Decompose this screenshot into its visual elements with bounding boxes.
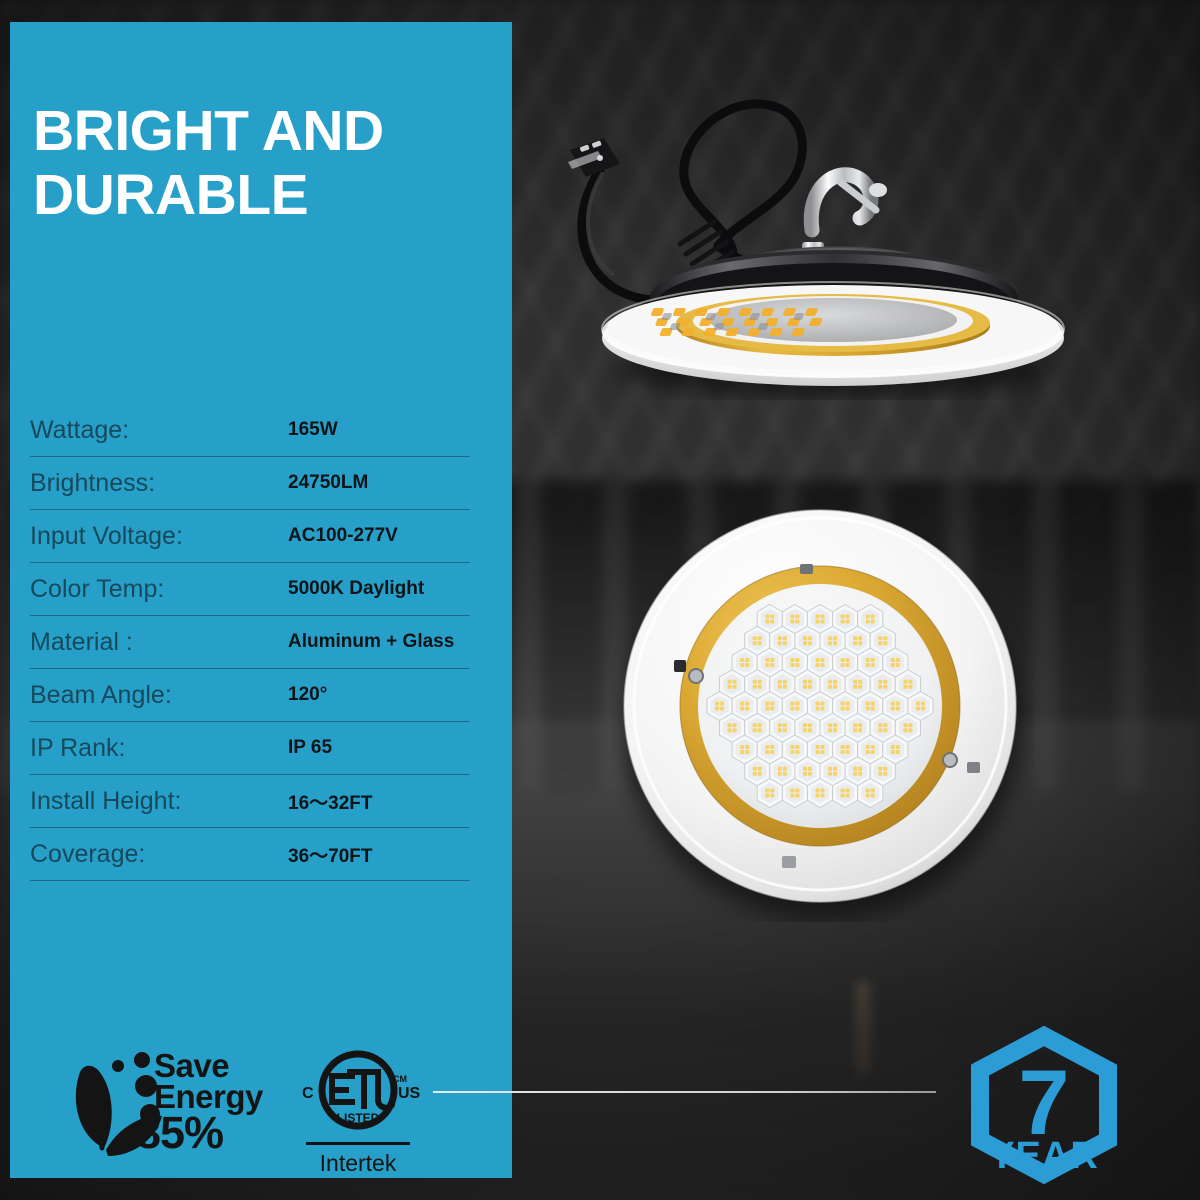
led-chip	[816, 745, 820, 749]
led-chip	[740, 707, 744, 711]
led-chip	[883, 685, 887, 689]
led-chip	[846, 620, 850, 624]
led-chip	[871, 663, 875, 667]
etl-mark-icon: CM LISTED C US	[302, 1054, 421, 1126]
led-chip	[853, 772, 857, 776]
led-chip	[778, 728, 782, 732]
led-chip	[908, 728, 912, 732]
led-chip	[795, 620, 799, 624]
led-chip	[795, 707, 799, 711]
led-chip	[770, 702, 774, 706]
led-chip	[828, 685, 832, 689]
mount-screw	[689, 669, 703, 683]
mount-screw	[943, 753, 957, 767]
led-chip	[803, 772, 807, 776]
led-chip	[921, 707, 925, 711]
led-chip	[765, 794, 769, 798]
led-chip	[778, 685, 782, 689]
led-chip	[903, 723, 907, 727]
led-chip	[770, 658, 774, 662]
led-chip	[891, 663, 895, 667]
led-chip	[803, 685, 807, 689]
spec-value: 16～32FT	[288, 788, 372, 815]
led-chip	[740, 702, 744, 706]
led-chip	[816, 789, 820, 793]
led-chip	[866, 658, 870, 662]
led-chip	[728, 728, 732, 732]
led-chip	[821, 615, 825, 619]
led-chip	[740, 750, 744, 754]
led-chip	[891, 745, 895, 749]
led-chip	[740, 658, 744, 662]
led-chip	[908, 723, 912, 727]
spec-label: Color Temp:	[30, 575, 288, 604]
led-chip	[770, 620, 774, 624]
save-energy-text: Save Energy 85%	[154, 1050, 263, 1154]
led-chip	[833, 680, 837, 684]
led-chip	[891, 707, 895, 711]
led-chip	[803, 767, 807, 771]
led-chip	[841, 620, 845, 624]
led-chip	[740, 663, 744, 667]
led-chip	[765, 620, 769, 624]
led-chip	[758, 685, 762, 689]
led-chip	[783, 636, 787, 640]
led-chip	[846, 707, 850, 711]
led-chip	[878, 680, 882, 684]
led-chip	[783, 728, 787, 732]
led-chip	[871, 789, 875, 793]
led-chip	[853, 767, 857, 771]
led-chip	[783, 680, 787, 684]
led-chip	[846, 615, 850, 619]
led-chip	[916, 707, 920, 711]
spec-label: Brightness:	[30, 469, 288, 498]
led-chip	[795, 658, 799, 662]
led-chip	[758, 636, 762, 640]
led-chip	[878, 641, 882, 645]
led-chip	[841, 615, 845, 619]
led-chip	[821, 794, 825, 798]
led-chip	[803, 723, 807, 727]
led-chip	[816, 702, 820, 706]
spec-value: 165W	[288, 419, 338, 441]
led-chip	[896, 702, 900, 706]
footer-divider	[433, 1091, 936, 1093]
led-chip	[720, 702, 724, 706]
led-chip	[833, 772, 837, 776]
save-energy-line1: Save	[154, 1050, 263, 1081]
led-chip	[745, 702, 749, 706]
led-chip	[908, 685, 912, 689]
led-chip	[808, 680, 812, 684]
mount-tab	[967, 762, 980, 773]
led-chip	[828, 723, 832, 727]
led-chip	[803, 636, 807, 640]
led-chip	[770, 789, 774, 793]
led-chip	[866, 745, 870, 749]
led-chip	[778, 636, 782, 640]
led-chip	[828, 641, 832, 645]
led-chip	[770, 750, 774, 754]
info-panel: BRIGHT AND DURABLE Wattage: 165W Brightn…	[10, 22, 512, 1178]
mount-screw	[800, 564, 813, 574]
led-chip	[853, 723, 857, 727]
led-chip	[878, 723, 882, 727]
spec-label: Wattage:	[30, 416, 288, 445]
led-chip	[778, 680, 782, 684]
led-chip	[765, 702, 769, 706]
led-chip	[816, 707, 820, 711]
led-chip	[896, 750, 900, 754]
led-chip	[765, 789, 769, 793]
led-chip	[783, 685, 787, 689]
led-chip	[821, 702, 825, 706]
led-chip	[728, 685, 732, 689]
led-chip	[765, 707, 769, 711]
etl-region-c: C	[302, 1085, 314, 1102]
led-chip	[790, 789, 794, 793]
led-chip	[871, 658, 875, 662]
led-chip	[783, 772, 787, 776]
mount-tab	[674, 660, 686, 672]
led-chip	[883, 723, 887, 727]
led-chip	[853, 680, 857, 684]
led-chip	[846, 745, 850, 749]
led-chip	[866, 750, 870, 754]
led-chip	[816, 750, 820, 754]
led-chip	[808, 723, 812, 727]
led-chip	[790, 745, 794, 749]
led-chip	[828, 728, 832, 732]
led-chip	[841, 750, 845, 754]
led-chip	[866, 794, 870, 798]
led-chip	[833, 723, 837, 727]
led-chip	[728, 723, 732, 727]
led-chip	[765, 663, 769, 667]
led-chip	[846, 663, 850, 667]
product-image-angled	[540, 70, 1110, 400]
led-chip	[778, 641, 782, 645]
spec-row-ip-rank: IP Rank: IP 65	[30, 722, 470, 775]
led-chip	[896, 658, 900, 662]
led-chip	[745, 663, 749, 667]
led-chip	[883, 641, 887, 645]
spec-label: Beam Angle:	[30, 681, 288, 710]
led-chip	[828, 680, 832, 684]
spec-row-brightness: Brightness: 24750LM	[30, 457, 470, 510]
led-chip	[858, 641, 862, 645]
led-chip	[758, 767, 762, 771]
led-chip	[765, 745, 769, 749]
led-chip	[808, 636, 812, 640]
led-chip	[916, 702, 920, 706]
led-chip	[745, 745, 749, 749]
led-chip	[795, 745, 799, 749]
spec-value: AC100-277V	[288, 525, 398, 547]
led-chip	[878, 767, 882, 771]
led-chip	[896, 745, 900, 749]
led-chip	[733, 685, 737, 689]
spec-row-coverage: Coverage: 36～70FT	[30, 828, 470, 881]
led-chip	[795, 789, 799, 793]
led-chip	[816, 663, 820, 667]
etl-company-name: Intertek	[294, 1150, 422, 1177]
led-chip	[778, 772, 782, 776]
led-chip	[783, 723, 787, 727]
led-chip	[821, 707, 825, 711]
led-chip	[841, 702, 845, 706]
led-chip	[816, 658, 820, 662]
led-chip	[883, 728, 887, 732]
led-chip	[821, 745, 825, 749]
led-chip	[891, 658, 895, 662]
led-chip	[783, 641, 787, 645]
led-chip	[715, 707, 719, 711]
warranty-badge: 7 YEAR	[966, 1022, 1122, 1184]
led-chip	[841, 745, 845, 749]
led-chip	[758, 641, 762, 645]
led-chip	[828, 767, 832, 771]
led-chip	[740, 745, 744, 749]
spec-value: Aluminum + Glass	[288, 631, 454, 653]
led-chip	[866, 620, 870, 624]
led-chip	[871, 794, 875, 798]
led-chip	[733, 723, 737, 727]
led-chip	[795, 702, 799, 706]
led-chip	[770, 794, 774, 798]
led-chip	[745, 658, 749, 662]
led-chip	[758, 728, 762, 732]
spec-row-material: Material : Aluminum + Glass	[30, 616, 470, 669]
led-chip	[921, 702, 925, 706]
led-chip	[783, 767, 787, 771]
led-chip	[758, 680, 762, 684]
led-chip	[753, 723, 757, 727]
led-chip	[770, 707, 774, 711]
led-chip	[745, 750, 749, 754]
led-chip	[833, 641, 837, 645]
led-chip	[871, 750, 875, 754]
led-chip	[790, 615, 794, 619]
led-chip	[853, 728, 857, 732]
led-chip	[720, 707, 724, 711]
led-chip	[858, 685, 862, 689]
save-energy-percent: 85%	[136, 1112, 263, 1154]
spec-row-input-voltage: Input Voltage: AC100-277V	[30, 510, 470, 563]
spec-value: IP 65	[288, 737, 332, 759]
led-chip	[841, 658, 845, 662]
led-chip	[790, 658, 794, 662]
led-chip	[866, 663, 870, 667]
led-chip	[883, 636, 887, 640]
led-chip	[858, 680, 862, 684]
led-chip	[891, 702, 895, 706]
led-chip	[871, 707, 875, 711]
led-chip	[765, 658, 769, 662]
led-chip	[853, 685, 857, 689]
led-chip	[866, 707, 870, 711]
etl-divider	[306, 1142, 410, 1145]
led-chip	[753, 772, 757, 776]
led-chip	[753, 636, 757, 640]
led-chip	[728, 680, 732, 684]
led-chip	[795, 794, 799, 798]
etl-listed-badge: CM LISTED C US Intertek	[294, 1046, 422, 1178]
led-chip	[846, 794, 850, 798]
led-chip	[816, 794, 820, 798]
led-chip	[803, 728, 807, 732]
led-chip	[871, 745, 875, 749]
led-chip	[795, 615, 799, 619]
led-chip	[828, 772, 832, 776]
led-chip	[883, 772, 887, 776]
led-chip	[753, 767, 757, 771]
led-chip	[846, 658, 850, 662]
led-chip	[778, 723, 782, 727]
led-chip	[903, 680, 907, 684]
led-chip	[841, 794, 845, 798]
led-chip	[733, 680, 737, 684]
page-title: BRIGHT AND DURABLE	[33, 100, 493, 228]
led-chip	[808, 772, 812, 776]
led-chip	[866, 702, 870, 706]
led-chip	[841, 663, 845, 667]
led-chip	[871, 620, 875, 624]
led-chip	[871, 702, 875, 706]
led-chip	[790, 707, 794, 711]
led-chip	[896, 663, 900, 667]
led-chip	[833, 728, 837, 732]
led-chip	[858, 772, 862, 776]
led-chip	[846, 702, 850, 706]
led-chip	[858, 728, 862, 732]
led-chip	[846, 750, 850, 754]
spec-label: Input Voltage:	[30, 522, 288, 551]
led-chip	[883, 767, 887, 771]
save-energy-badge: Save Energy 85%	[68, 1044, 268, 1168]
led-chip	[853, 636, 857, 640]
etl-listed-text: LISTED	[337, 1111, 380, 1125]
led-chip	[828, 636, 832, 640]
led-chip	[878, 685, 882, 689]
led-chip	[745, 707, 749, 711]
led-chip	[803, 680, 807, 684]
led-chip	[908, 680, 912, 684]
led-chip	[821, 620, 825, 624]
led-chip	[753, 680, 757, 684]
led-chip	[816, 615, 820, 619]
led-chip	[866, 615, 870, 619]
led-chip	[821, 663, 825, 667]
led-chip	[866, 789, 870, 793]
led-chip	[808, 728, 812, 732]
warranty-unit: YEAR	[989, 1135, 1099, 1177]
led-chip	[753, 685, 757, 689]
led-chip	[733, 728, 737, 732]
led-chip	[803, 641, 807, 645]
spec-value: 5000K Daylight	[288, 578, 424, 600]
led-chip	[858, 723, 862, 727]
mount-tab	[782, 856, 796, 868]
led-chip	[878, 728, 882, 732]
us-plug-icon	[568, 138, 620, 177]
spec-label: IP Rank:	[30, 734, 288, 763]
led-chip	[853, 641, 857, 645]
led-chip	[883, 680, 887, 684]
led-chip	[896, 707, 900, 711]
led-chip	[808, 641, 812, 645]
led-chip	[841, 707, 845, 711]
spec-row-color-temp: Color Temp: 5000K Daylight	[30, 563, 470, 616]
led-chip	[878, 772, 882, 776]
spec-label: Coverage:	[30, 840, 288, 869]
led-chip	[821, 658, 825, 662]
spec-label: Install Height:	[30, 787, 288, 816]
spec-label: Material :	[30, 628, 288, 657]
spec-value: 24750LM	[288, 472, 368, 494]
spec-value: 120°	[288, 684, 327, 706]
led-chip	[833, 685, 837, 689]
led-chip	[795, 663, 799, 667]
led-chip	[778, 767, 782, 771]
led-chip	[795, 750, 799, 754]
spec-row-wattage: Wattage: 165W	[30, 404, 470, 457]
led-chip	[833, 636, 837, 640]
led-chip	[903, 728, 907, 732]
led-chip	[871, 615, 875, 619]
led-chip	[841, 789, 845, 793]
spec-row-install-height: Install Height: 16～32FT	[30, 775, 470, 828]
led-chip	[903, 685, 907, 689]
spec-table: Wattage: 165W Brightness: 24750LM Input …	[30, 404, 470, 881]
led-chip	[753, 641, 757, 645]
led-chip	[765, 750, 769, 754]
led-chip	[770, 745, 774, 749]
led-chip	[758, 723, 762, 727]
led-chip	[808, 767, 812, 771]
led-chip	[833, 767, 837, 771]
spec-value: 36～70FT	[288, 841, 372, 868]
led-chip	[858, 636, 862, 640]
led-chip	[816, 620, 820, 624]
led-chip	[758, 772, 762, 776]
product-image-bottom	[610, 498, 1034, 922]
led-chip	[821, 789, 825, 793]
product-marketing-banner: BRIGHT AND DURABLE Wattage: 165W Brightn…	[0, 0, 1200, 1200]
led-chip	[770, 615, 774, 619]
led-chip	[821, 750, 825, 754]
led-chip	[715, 702, 719, 706]
etl-region-us: US	[398, 1085, 421, 1102]
led-chip	[790, 663, 794, 667]
led-chip	[770, 663, 774, 667]
led-chip	[790, 620, 794, 624]
led-chip	[808, 685, 812, 689]
led-chip	[790, 702, 794, 706]
led-chip	[765, 615, 769, 619]
led-chip	[858, 767, 862, 771]
led-chip	[891, 750, 895, 754]
led-chip	[753, 728, 757, 732]
spec-row-beam-angle: Beam Angle: 120°	[30, 669, 470, 722]
led-chip	[878, 636, 882, 640]
etl-superscript: CM	[393, 1074, 407, 1084]
led-chip	[846, 789, 850, 793]
led-chip	[790, 794, 794, 798]
led-chip	[790, 750, 794, 754]
